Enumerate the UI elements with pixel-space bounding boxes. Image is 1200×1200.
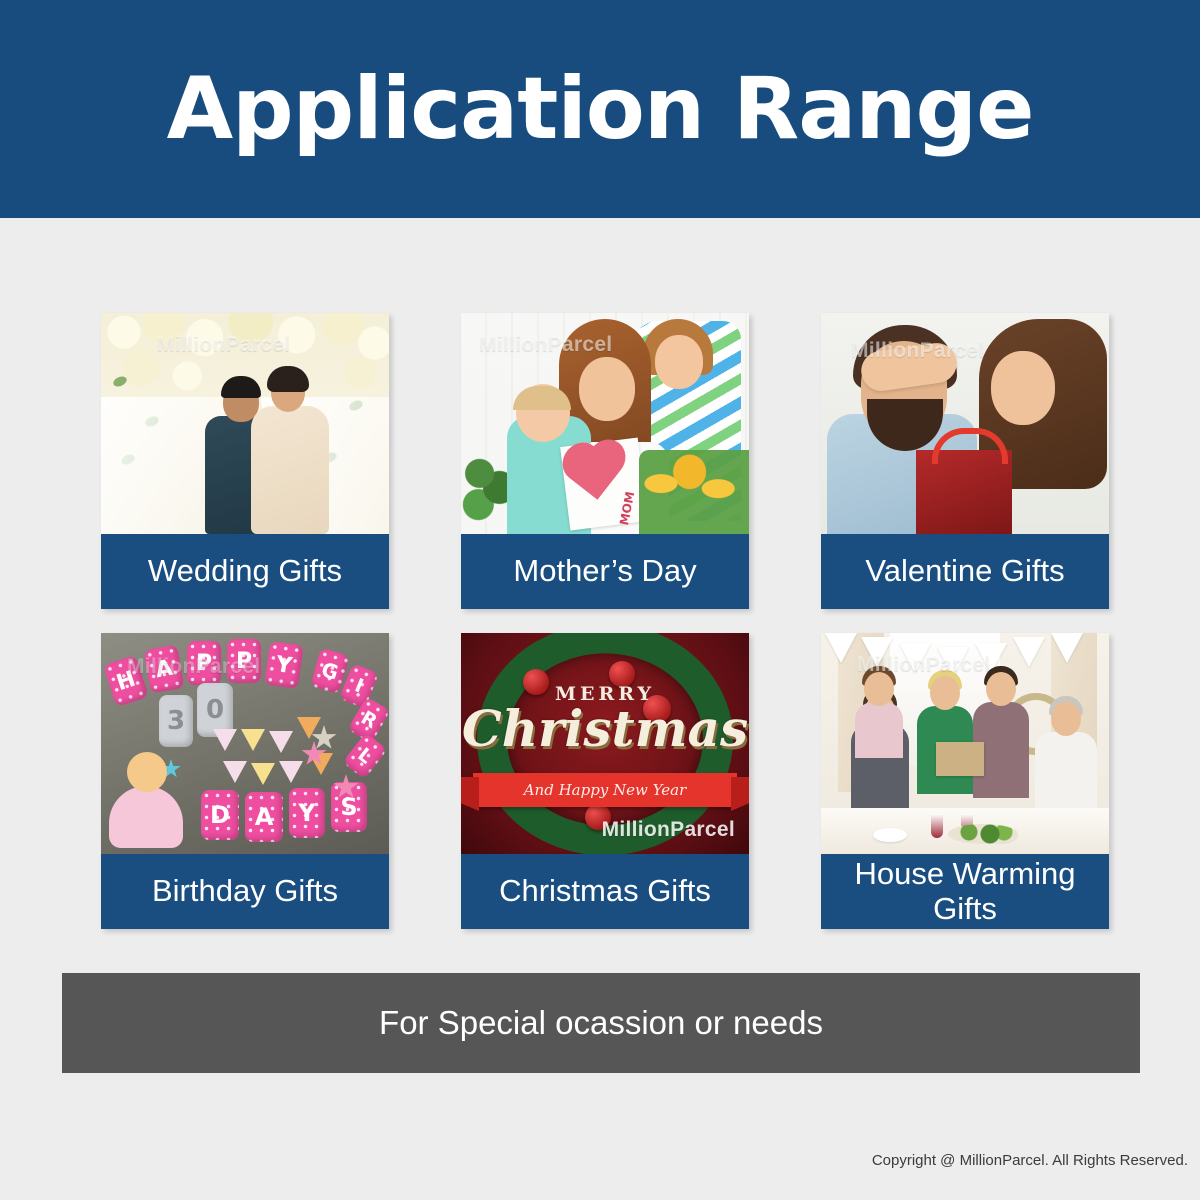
copyright-text: Copyright @ MillionParcel. All Rights Re… bbox=[872, 1152, 1188, 1169]
card-row-1: MillionParcel Wedding Gifts bbox=[101, 313, 1109, 609]
special-occasion-banner: For Special ocassion or needs bbox=[62, 973, 1140, 1073]
card-photo-wedding: MillionParcel bbox=[101, 313, 389, 534]
card-birthday-gifts[interactable]: H A P P Y G I R L 3 0 D A Y S bbox=[101, 633, 389, 929]
card-row-2: H A P P Y G I R L 3 0 D A Y S bbox=[101, 633, 1109, 929]
christmas-scene-illustration: MERRY Christmas And Happy New Year bbox=[461, 633, 749, 854]
house-warming-scene-illustration bbox=[821, 633, 1109, 854]
card-house-warming-gifts[interactable]: MillionParcel House Warming Gifts bbox=[821, 633, 1109, 929]
card-wedding-gifts[interactable]: MillionParcel Wedding Gifts bbox=[101, 313, 389, 609]
wedding-scene-illustration bbox=[101, 313, 389, 534]
valentine-scene-illustration bbox=[821, 313, 1109, 534]
christmas-title-text: Christmas bbox=[461, 699, 749, 758]
card-photo-valentine: MillionParcel bbox=[821, 313, 1109, 534]
application-range-grid: MillionParcel Wedding Gifts bbox=[101, 313, 1109, 929]
christmas-subtitle-text: And Happy New Year bbox=[524, 781, 687, 799]
card-label-house-warming-gifts: House Warming Gifts bbox=[821, 854, 1109, 929]
card-photo-christmas: MERRY Christmas And Happy New Year Milli… bbox=[461, 633, 749, 854]
card-label-birthday-gifts: Birthday Gifts bbox=[101, 854, 389, 929]
banner-text: For Special ocassion or needs bbox=[379, 1004, 823, 1042]
card-mothers-day[interactable]: MOM MillionParcel Mother’s Day bbox=[461, 313, 749, 609]
card-label-valentine-gifts: Valentine Gifts bbox=[821, 534, 1109, 609]
mothers-day-scene-illustration: MOM bbox=[461, 313, 749, 534]
birthday-scene-illustration: H A P P Y G I R L 3 0 D A Y S bbox=[101, 633, 389, 854]
card-christmas-gifts[interactable]: MERRY Christmas And Happy New Year Milli… bbox=[461, 633, 749, 929]
card-photo-birthday: H A P P Y G I R L 3 0 D A Y S bbox=[101, 633, 389, 854]
card-valentine-gifts[interactable]: MillionParcel Valentine Gifts bbox=[821, 313, 1109, 609]
card-photo-house-warming: MillionParcel bbox=[821, 633, 1109, 854]
card-label-christmas-gifts: Christmas Gifts bbox=[461, 854, 749, 929]
page-header: Application Range bbox=[0, 0, 1200, 218]
christmas-ribbon: And Happy New Year bbox=[473, 773, 737, 807]
card-photo-mothers-day: MOM MillionParcel bbox=[461, 313, 749, 534]
page-title: Application Range bbox=[167, 66, 1034, 152]
card-label-wedding-gifts: Wedding Gifts bbox=[101, 534, 389, 609]
card-label-mothers-day: Mother’s Day bbox=[461, 534, 749, 609]
